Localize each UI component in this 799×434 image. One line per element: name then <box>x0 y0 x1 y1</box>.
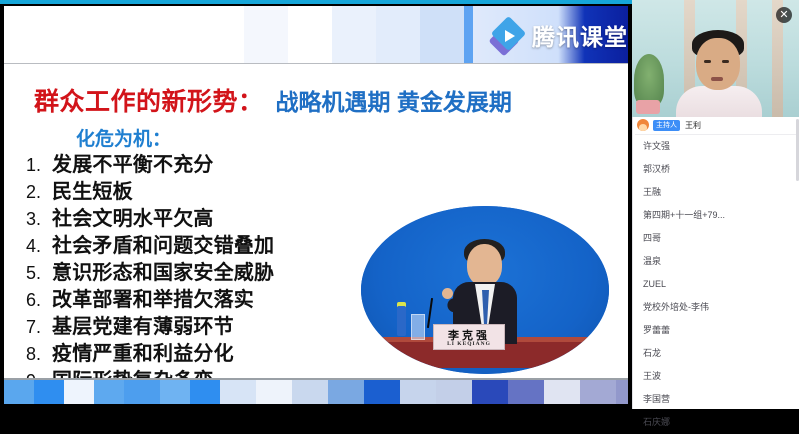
participant-row[interactable]: ZUEL <box>633 273 799 296</box>
banner-tile <box>288 6 332 64</box>
mosaic-tile <box>328 380 364 404</box>
list-item: 1.发展不平衡不充分 <box>26 148 366 175</box>
list-item-number: 1. <box>26 155 52 176</box>
slide-footer-mosaic <box>4 380 628 404</box>
host-badge: 主持人 <box>653 120 680 131</box>
list-item-number: 8. <box>26 344 52 365</box>
headline-red: 群众工作的新形势： <box>34 88 264 116</box>
avatar <box>637 119 649 131</box>
participant-row[interactable]: 石龙 <box>633 342 799 365</box>
list-item-number: 7. <box>26 317 52 338</box>
webcam-video-tile[interactable]: ✕ <box>632 0 799 117</box>
close-icon[interactable]: ✕ <box>776 7 792 23</box>
participant-rows: 许文强郭汉桥王融第四期+十一组+79...四哥温泉ZUEL党校外培处-李伟罗蕾蕾… <box>633 135 799 434</box>
participant-row[interactable]: 石庆娜 <box>633 411 799 434</box>
participant-row[interactable]: 王波 <box>633 365 799 388</box>
participant-row[interactable]: 李国营 <box>633 388 799 411</box>
headline-blue: 战略机遇期 黄金发展期 <box>276 89 512 115</box>
slide-banner: 腾讯课堂 <box>4 6 628 64</box>
list-item: 3.社会文明水平欠高 <box>26 202 366 229</box>
participant-host-row[interactable]: 主持人 王利 <box>633 117 799 132</box>
list-item: 7.基层党建有薄弱环节 <box>26 310 366 337</box>
banner-tile <box>332 6 376 64</box>
mosaic-tile <box>94 380 124 404</box>
list-item-label: 改革部署和举措欠落实 <box>52 283 254 312</box>
nameplate: 李克强 LI KEQIANG <box>433 324 505 350</box>
list-item-label: 民生短板 <box>52 175 133 204</box>
banner-divider <box>4 63 628 64</box>
list-item-label: 社会矛盾和问题交错叠加 <box>52 229 274 258</box>
mosaic-tile <box>472 380 508 404</box>
participant-row[interactable]: 罗蕾蕾 <box>633 319 799 342</box>
mosaic-tile <box>616 380 628 404</box>
banner-tile <box>244 6 288 64</box>
mosaic-tile <box>160 380 190 404</box>
participant-row[interactable]: 温泉 <box>633 250 799 273</box>
participant-row[interactable]: 许文强 <box>633 135 799 158</box>
meeting-screen: 腾讯课堂 群众工作的新形势：战略机遇期 黄金发展期 化危为机： 1.发展不平衡不… <box>0 0 799 409</box>
mosaic-tile <box>124 380 160 404</box>
mosaic-tile <box>190 380 220 404</box>
right-panel: ✕ 主持人 王利 许文强郭汉桥王融第四期+十一组+79...四哥温泉ZUEL党校… <box>632 0 799 409</box>
webcam-speaker <box>680 34 756 117</box>
host-name: 王利 <box>685 120 701 131</box>
participant-row[interactable]: 党校外培处-李伟 <box>633 296 799 319</box>
mosaic-tile <box>400 380 436 404</box>
photo-oval-mask: 李克强 LI KEQIANG <box>361 206 609 374</box>
list-item-label: 基层党建有薄弱环节 <box>52 310 234 339</box>
slide-photo: 李克强 LI KEQIANG <box>356 202 614 380</box>
mosaic-tile <box>64 380 94 404</box>
list-item: 5.意识形态和国家安全威胁 <box>26 256 366 283</box>
stage-accent-bar <box>0 0 632 4</box>
mosaic-tile <box>292 380 328 404</box>
banner-tile <box>376 6 420 64</box>
nameplate-en: LI KEQIANG <box>434 341 504 347</box>
list-item-label: 意识形态和国家安全威胁 <box>52 256 274 285</box>
participant-list[interactable]: 主持人 王利 许文强郭汉桥王融第四期+十一组+79...四哥温泉ZUEL党校外培… <box>632 117 799 409</box>
list-item-label: 社会文明水平欠高 <box>52 202 214 231</box>
list-item-number: 2. <box>26 182 52 203</box>
slide-headline: 群众工作的新形势：战略机遇期 黄金发展期 <box>34 82 512 118</box>
plant-decor <box>634 54 664 106</box>
list-item-number: 5. <box>26 263 52 284</box>
list-item-number: 3. <box>26 209 52 230</box>
list-item-number: 4. <box>26 236 52 257</box>
list-item: 2.民生短板 <box>26 175 366 202</box>
banner-tile <box>420 6 464 64</box>
mosaic-tile <box>34 380 64 404</box>
list-item-label: 发展不平衡不充分 <box>52 148 214 177</box>
list-item: 4.社会矛盾和问题交错叠加 <box>26 229 366 256</box>
tencent-classroom-logo: 腾讯课堂 <box>473 6 628 64</box>
mosaic-tile <box>436 380 472 404</box>
presentation-stage[interactable]: 腾讯课堂 群众工作的新形势：战略机遇期 黄金发展期 化危为机： 1.发展不平衡不… <box>0 0 632 409</box>
mosaic-tile <box>580 380 616 404</box>
plant-pot-decor <box>636 100 660 114</box>
mosaic-tile <box>544 380 580 404</box>
participant-row[interactable]: 第四期+十一组+79... <box>633 204 799 227</box>
list-item-number: 6. <box>26 290 52 311</box>
logo-text: 腾讯课堂 <box>532 18 628 52</box>
slide-subheading: 化危为机： <box>76 124 171 151</box>
play-diamond-icon <box>491 18 525 52</box>
mosaic-tile <box>4 380 34 404</box>
participant-row[interactable]: 郭汉桥 <box>633 158 799 181</box>
list-item: 8.疫情严重和利益分化 <box>26 337 366 364</box>
list-item-label: 疫情严重和利益分化 <box>52 337 234 366</box>
mosaic-tile <box>508 380 544 404</box>
participant-row[interactable]: 王融 <box>633 181 799 204</box>
slide-canvas: 腾讯课堂 群众工作的新形势：战略机遇期 黄金发展期 化危为机： 1.发展不平衡不… <box>4 6 628 404</box>
slide-bullet-list: 1.发展不平衡不充分2.民生短板3.社会文明水平欠高4.社会矛盾和问题交错叠加5… <box>26 148 366 391</box>
banner-tile <box>4 6 244 64</box>
mosaic-tile <box>256 380 292 404</box>
mosaic-tile <box>220 380 256 404</box>
participant-row[interactable]: 四哥 <box>633 227 799 250</box>
mosaic-tile <box>364 380 400 404</box>
list-item: 6.改革部署和举措欠落实 <box>26 283 366 310</box>
